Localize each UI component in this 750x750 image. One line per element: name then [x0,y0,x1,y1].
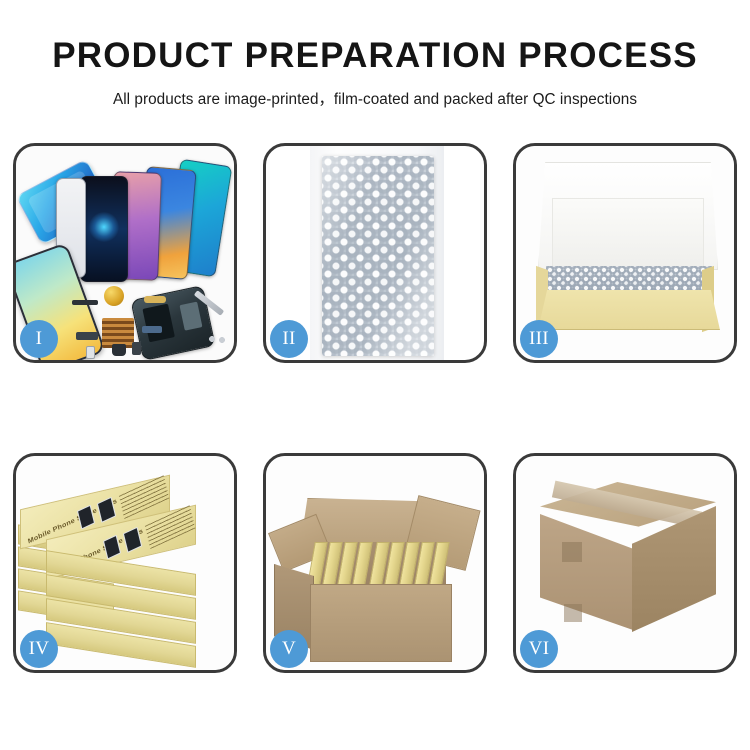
process-step-2: II [263,143,487,363]
mailer-box-front-panel [538,290,720,330]
process-step-5: V [263,453,487,673]
process-step-3: III [513,143,737,363]
speaker-module-icon [112,344,126,356]
flex-cable-icon [72,300,98,305]
step-badge-5: V [270,630,308,668]
bubble-wrap-inside-icon [546,266,712,292]
phone-fan-group [54,160,234,280]
mailer-box-lid-inner [552,198,704,270]
page-subtitle: All products are image-printed，film-coat… [0,87,750,109]
header: PRODUCT PREPARATION PROCESS All products… [0,0,750,109]
vibration-motor-icon [132,342,141,355]
ribbon-cable-icon [142,326,162,333]
sim-tray-icon [86,346,95,359]
page-title: PRODUCT PREPARATION PROCESS [0,36,750,76]
step-badge-2: II [270,320,308,358]
step-badge-6: VI [520,630,558,668]
carton-seam-tab-top [562,542,582,562]
sealed-carton-right-panel [632,506,716,632]
copper-coil-icon [104,286,124,306]
carton-seam-tab-bottom [564,604,582,622]
gold-connector-icon [144,296,166,303]
product-preparation-infographic: PRODUCT PREPARATION PROCESS All products… [0,0,750,750]
step-badge-4: IV [20,630,58,668]
process-step-1: I [13,143,237,363]
sealed-carton-left-panel [540,514,633,630]
step-badge-1: I [20,320,58,358]
carton-front-panel [310,584,452,662]
step-badge-3: III [520,320,558,358]
process-step-grid: I II III [13,143,737,673]
camera-module-icon [76,332,98,340]
process-step-6: VI [513,453,737,673]
phone-dark-wallpaper-icon [80,176,128,282]
bubble-wrap-icon [322,156,434,356]
process-step-4: Mobile Phone Spare Parts Mobile Phone Sp… [13,453,237,673]
loose-screws-icon [208,334,228,344]
